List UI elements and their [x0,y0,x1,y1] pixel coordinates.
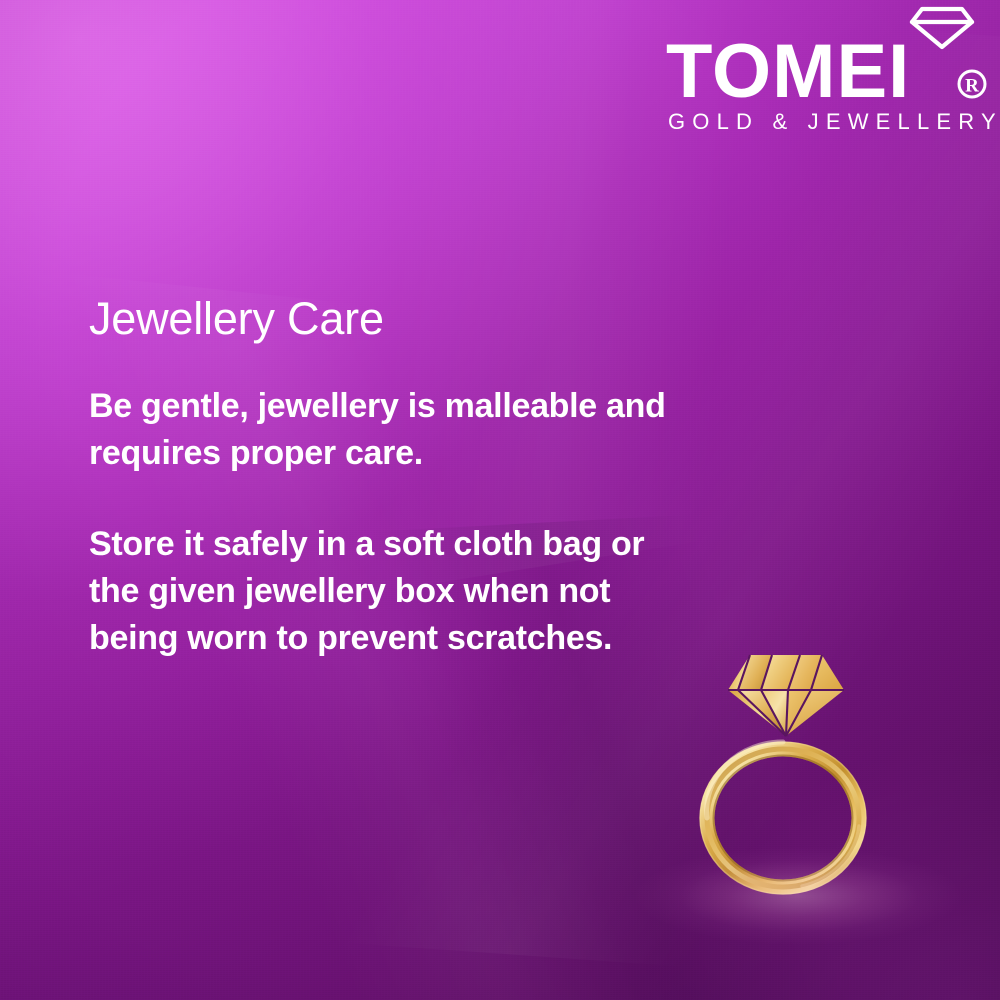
ring-svg [690,630,900,930]
logo-tagline: GOLD & JEWELLERY [668,111,1000,133]
diamond-gem-icon [728,655,844,736]
diamond-outline-icon [909,6,975,50]
care-paragraph-1: Be gentle, jewellery is malleable and re… [89,383,669,477]
page-title: Jewellery Care [89,294,384,344]
care-paragraph-2: Store it safely in a soft cloth bag or t… [89,521,669,662]
ring-band-icon [700,742,866,894]
registered-trademark-icon: R [956,68,988,100]
diamond-ring-illustration [690,630,900,930]
tomei-logo: TOMEI R GOLD & JEWELLERY [660,4,990,144]
logo-wordmark: TOMEI [666,34,910,110]
jewellery-care-card: TOMEI R GOLD & JEWELLERY Jewellery Care … [0,0,1000,1000]
svg-text:R: R [965,76,979,97]
